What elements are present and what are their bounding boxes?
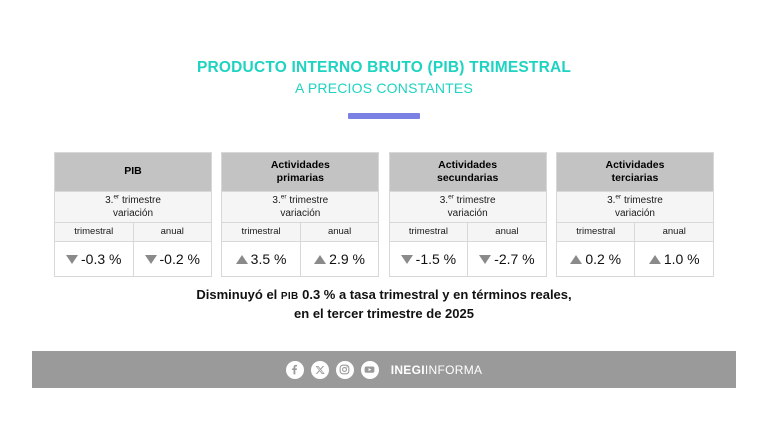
indicator-card: PIB3.er trimestrevariacióntrimestralanua…: [54, 152, 212, 277]
card-period-line-1: 3.er trimestre: [607, 194, 663, 207]
caption-line-2: en el tercer trimestre de 2025: [0, 305, 768, 324]
arrow-down-icon: [401, 255, 413, 264]
arrow-down-icon: [145, 255, 157, 264]
arrow-up-icon: [236, 255, 248, 264]
column-header-annual: anual: [468, 223, 546, 241]
value-quarterly: -1.5 %: [416, 251, 456, 267]
card-period-line-2: variación: [448, 207, 488, 220]
column-header-annual: anual: [134, 223, 212, 241]
caption-text-a: Disminuyó el: [196, 287, 281, 302]
column-header-annual: anual: [301, 223, 379, 241]
column-header-quarterly: trimestral: [222, 223, 301, 241]
x-twitter-icon[interactable]: [311, 361, 329, 379]
ordinal-superscript: er: [615, 194, 621, 201]
card-period-label: 3.er trimestrevariación: [390, 191, 546, 223]
arrow-down-icon: [479, 255, 491, 264]
card-period-line-2: variación: [615, 207, 655, 220]
brand-inegi: INEGI: [391, 363, 425, 377]
column-header-quarterly: trimestral: [390, 223, 469, 241]
card-values: -1.5 %-2.7 %: [390, 242, 546, 276]
value-quarterly: 3.5 %: [251, 251, 287, 267]
card-column-headers: trimestralanual: [390, 223, 546, 242]
card-period-label: 3.er trimestrevariación: [557, 191, 713, 223]
arrow-up-icon: [314, 255, 326, 264]
card-title: Actividadessecundarias: [390, 153, 546, 191]
value-cell-annual: -0.2 %: [134, 242, 212, 276]
column-header-annual: anual: [635, 223, 713, 241]
card-values: 3.5 %2.9 %: [222, 242, 378, 276]
indicator-card: Actividadesprimarias3.er trimestrevariac…: [221, 152, 379, 277]
ordinal-superscript: er: [448, 194, 454, 201]
card-period-line-1: 3.er trimestre: [440, 194, 496, 207]
value-cell-quarterly: -0.3 %: [55, 242, 134, 276]
card-period-label: 3.er trimestrevariación: [222, 191, 378, 223]
arrow-up-icon: [570, 255, 582, 264]
value-quarterly: -0.3 %: [81, 251, 121, 267]
page-title: PRODUCTO INTERNO BRUTO (PIB) TRIMESTRAL …: [0, 58, 768, 119]
value-cell-annual: 2.9 %: [301, 242, 379, 276]
arrow-down-icon: [66, 255, 78, 264]
value-annual: -0.2 %: [160, 251, 200, 267]
caption-text-b: 0.3 % a tasa trimestral y en términos re…: [298, 287, 571, 302]
card-period-line-2: variación: [113, 207, 153, 220]
card-title: PIB: [55, 153, 211, 191]
card-column-headers: trimestralanual: [55, 223, 211, 242]
ordinal-superscript: er: [113, 194, 119, 201]
value-cell-quarterly: -1.5 %: [390, 242, 469, 276]
value-cell-quarterly: 0.2 %: [557, 242, 636, 276]
caption-pib-acronym: PIB: [281, 291, 299, 302]
column-header-quarterly: trimestral: [55, 223, 134, 241]
value-annual: 2.9 %: [329, 251, 365, 267]
ordinal-superscript: er: [281, 194, 287, 201]
facebook-icon[interactable]: [286, 361, 304, 379]
value-cell-annual: 1.0 %: [635, 242, 713, 276]
card-period-line-1: 3.er trimestre: [105, 194, 161, 207]
column-header-quarterly: trimestral: [557, 223, 636, 241]
card-period-label: 3.er trimestrevariación: [55, 191, 211, 223]
card-values: 0.2 %1.0 %: [557, 242, 713, 276]
brand-label: INEGIINFORMA: [391, 363, 483, 377]
instagram-icon[interactable]: [336, 361, 354, 379]
card-values: -0.3 %-0.2 %: [55, 242, 211, 276]
value-cell-quarterly: 3.5 %: [222, 242, 301, 276]
arrow-up-icon: [649, 255, 661, 264]
title-line-1: PRODUCTO INTERNO BRUTO (PIB) TRIMESTRAL: [0, 58, 768, 77]
value-quarterly: 0.2 %: [585, 251, 621, 267]
card-column-headers: trimestralanual: [222, 223, 378, 242]
indicator-card: Actividadessecundarias3.er trimestrevari…: [389, 152, 547, 277]
card-column-headers: trimestralanual: [557, 223, 713, 242]
summary-caption: Disminuyó el PIB 0.3 % a tasa trimestral…: [0, 286, 768, 324]
value-annual: -2.7 %: [494, 251, 534, 267]
brand-informa: INFORMA: [425, 363, 482, 377]
card-title: Actividadesterciarias: [557, 153, 713, 191]
indicator-card: Actividadesterciarias3.er trimestrevaria…: [556, 152, 714, 277]
footer-bar: INEGIINFORMA: [32, 351, 736, 388]
youtube-icon[interactable]: [361, 361, 379, 379]
title-line-2: A PRECIOS CONSTANTES: [0, 79, 768, 97]
card-title: Actividadesprimarias: [222, 153, 378, 191]
value-annual: 1.0 %: [664, 251, 700, 267]
value-cell-annual: -2.7 %: [468, 242, 546, 276]
card-period-line-1: 3.er trimestre: [272, 194, 328, 207]
indicator-cards-row: PIB3.er trimestrevariacióntrimestralanua…: [54, 152, 714, 277]
card-period-line-2: variación: [280, 207, 320, 220]
title-divider-rule: [348, 113, 420, 119]
caption-line-1: Disminuyó el PIB 0.3 % a tasa trimestral…: [0, 286, 768, 305]
